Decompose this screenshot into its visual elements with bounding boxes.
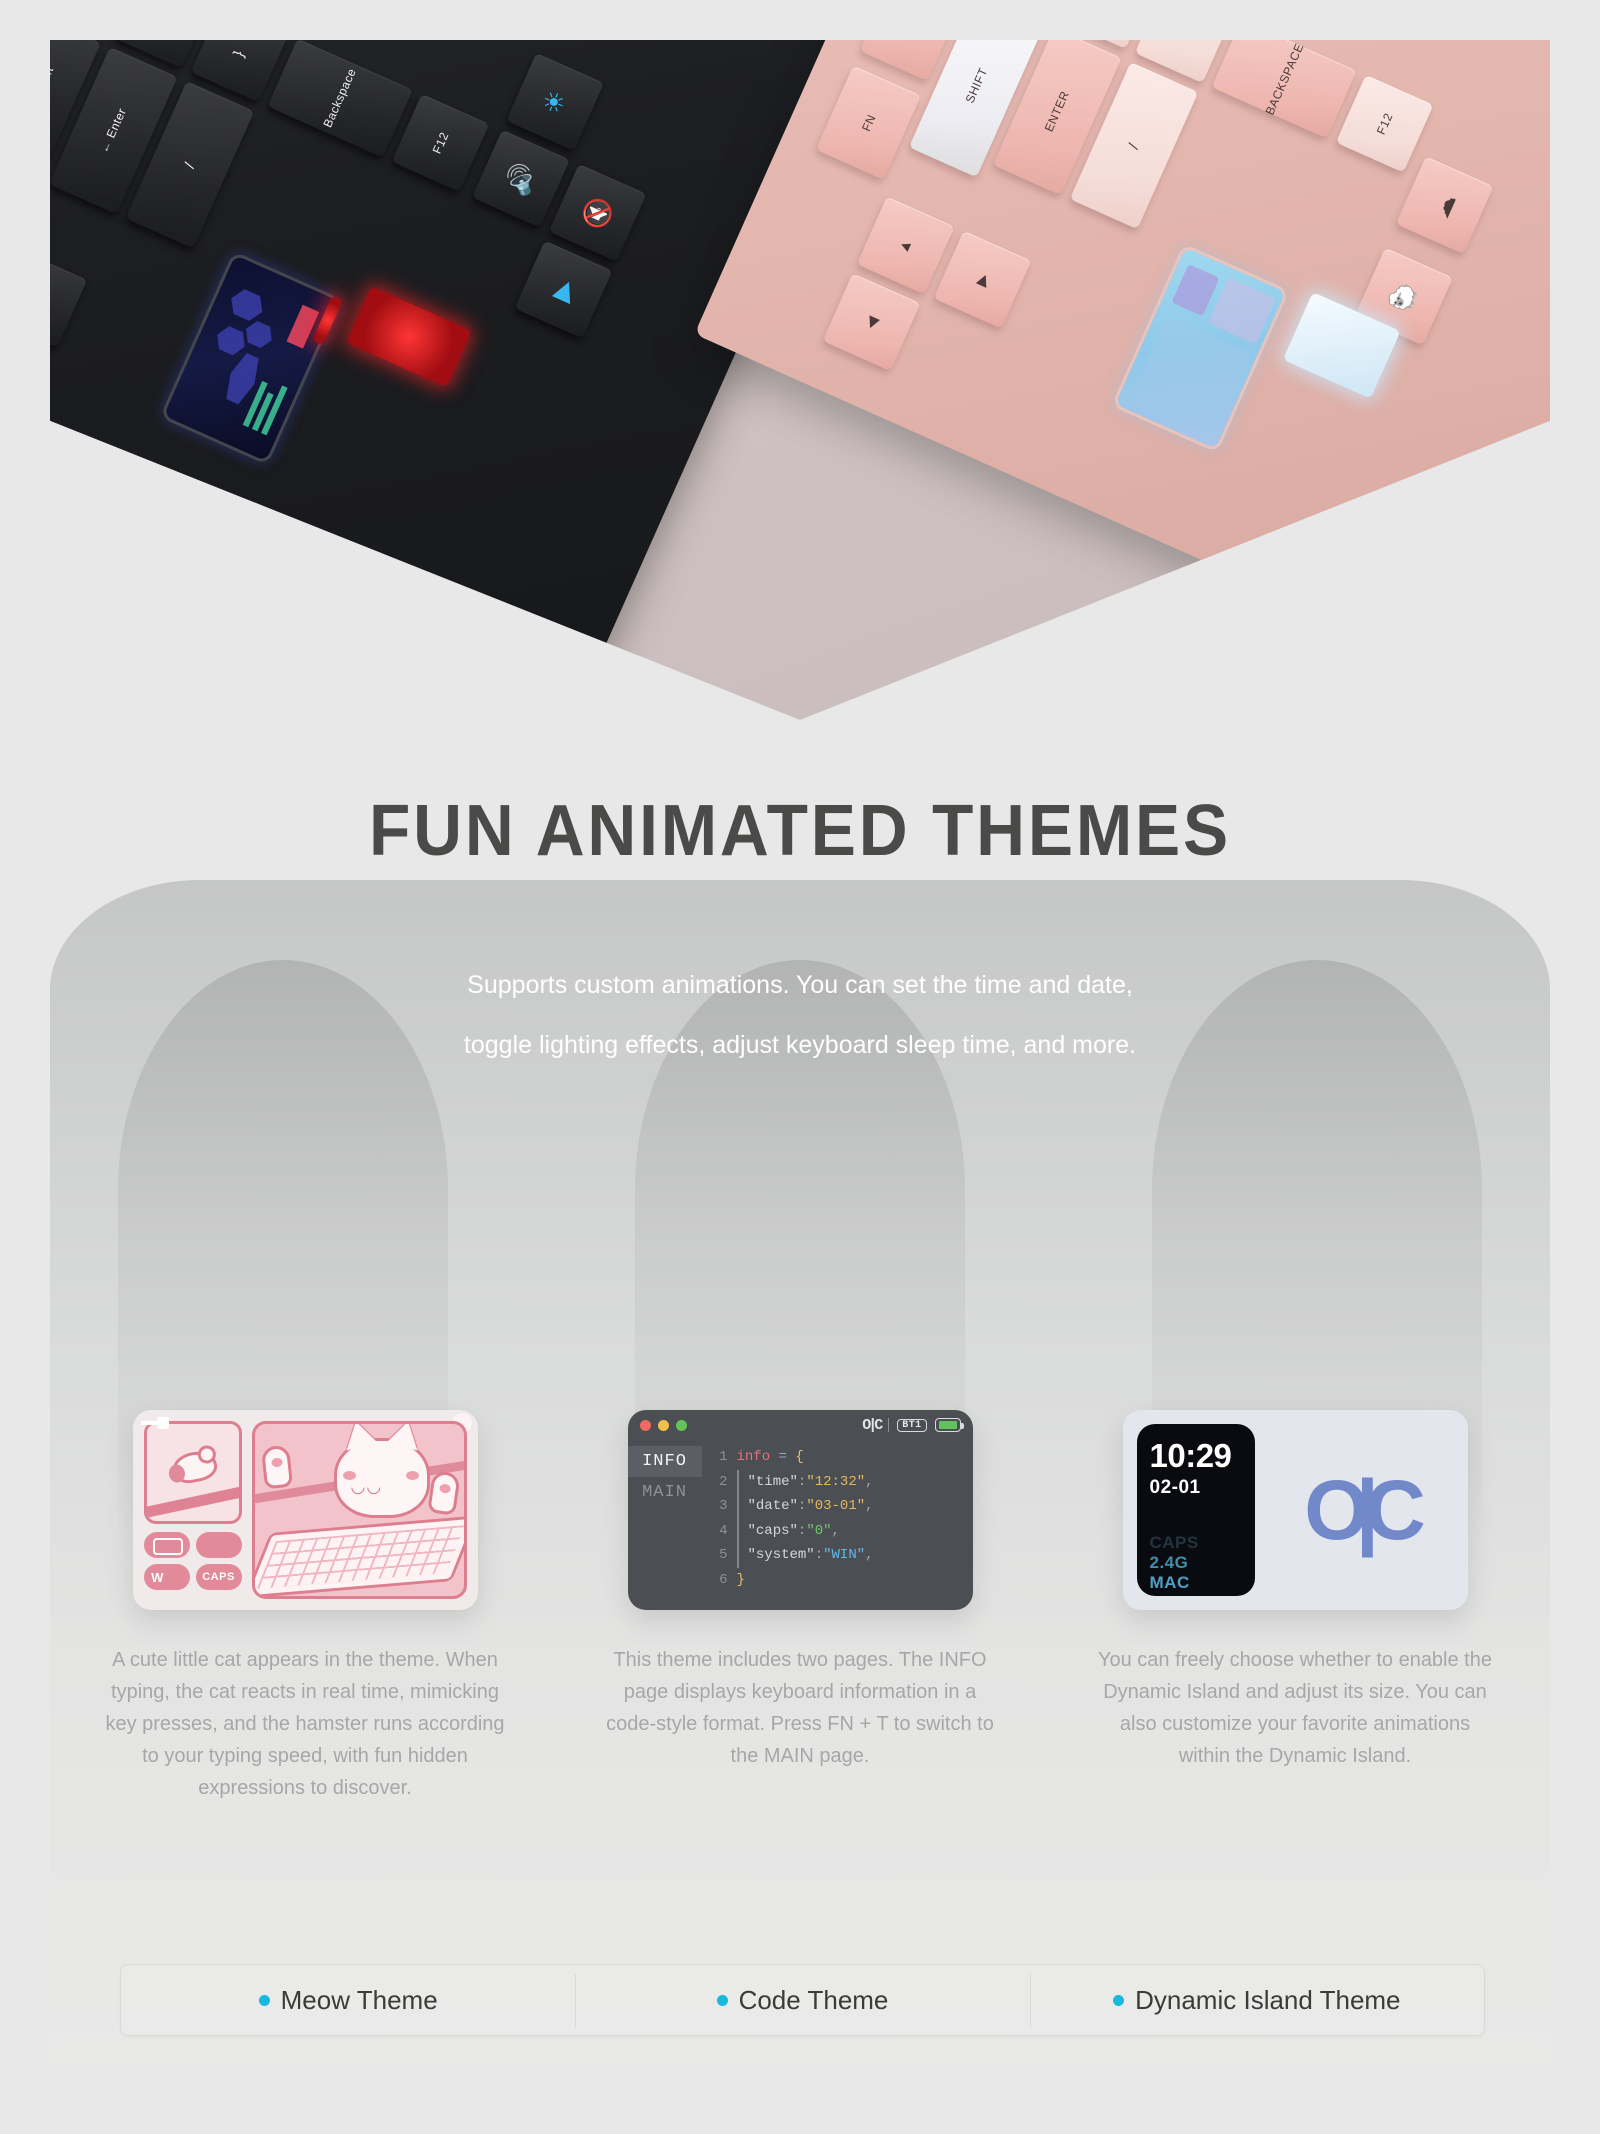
theme-tabbar: Meow Theme Code Theme Dynamic Island The…: [120, 1964, 1485, 2036]
hero-backdrop: ? " } Backspace F12 ⇧ Shift ← Enter / Co…: [50, 40, 1550, 720]
di-connection-status: 2.4G: [1150, 1553, 1255, 1573]
key-arrow-right: ▶: [50, 250, 87, 348]
brightness-icon: ☀: [506, 53, 604, 151]
maximize-icon[interactable]: [676, 1420, 687, 1431]
usb-icon: [196, 1532, 242, 1558]
tab-label: Dynamic Island Theme: [1135, 1985, 1400, 2016]
code-window-titlebar: O|C BT1: [628, 1410, 973, 1440]
minimize-icon[interactable]: [658, 1420, 669, 1431]
sound-icon: 🔊: [472, 130, 570, 228]
code-tab-main[interactable]: MAIN: [628, 1477, 702, 1508]
page-subtitle: Supports custom animations. You can set …: [0, 955, 1600, 1075]
bullet-icon: [259, 1995, 270, 2006]
code-window-body: INFO MAIN 1info = { 2"time":"12:32", 3"d…: [628, 1440, 973, 1610]
caps-indicator: CAPS: [196, 1564, 242, 1590]
key-f12-pink: F12: [1336, 75, 1434, 173]
di-date: 02-01: [1150, 1477, 1255, 1499]
meow-status-chips: W CAPS: [144, 1532, 242, 1590]
code-line: 1info = {: [706, 1445, 973, 1470]
dynamic-island-theme-art: 10:29 02-01 CAPS 2.4G MAC O|C: [1123, 1410, 1468, 1610]
cat-paw-right: [427, 1470, 461, 1515]
divider: [888, 1418, 889, 1432]
cat-ear-left: [340, 1421, 377, 1450]
tab-label: Meow Theme: [281, 1985, 438, 2016]
key-cloud-icon: ☁: [1396, 156, 1494, 254]
battery-icon: [144, 1532, 190, 1558]
tab-dynamic-island-theme[interactable]: Dynamic Island Theme: [1030, 1965, 1484, 2035]
meow-left-column: W CAPS: [144, 1421, 242, 1599]
subtitle-line-1: Supports custom animations. You can set …: [0, 955, 1600, 1015]
code-line: 2"time":"12:32",: [706, 1470, 973, 1495]
code-editor-lines: 1info = { 2"time":"12:32", 3"date":"03-0…: [702, 1440, 973, 1610]
keyboard-illustration: [252, 1515, 467, 1598]
pink-keyboard-mini-screen: [1111, 243, 1289, 453]
black-keyboard: ? " } Backspace F12 ⇧ Shift ← Enter / Co…: [50, 40, 882, 701]
page-title: FUN ANIMATED THEMES: [48, 790, 1552, 872]
hamster-ramp: [144, 1484, 242, 1520]
meow-theme-art: W CAPS ◡◡: [133, 1410, 478, 1610]
oc-logo-icon: O|C: [862, 1417, 880, 1434]
play-icon: ▶: [515, 241, 613, 339]
dynamic-island-screen: 10:29 02-01 CAPS 2.4G MAC: [1137, 1424, 1255, 1596]
di-system-status: MAC: [1150, 1573, 1255, 1593]
pink-keyboard-keys: ? " } BACKSPACE F12 SHIFT ENTER / FN 🐵 🐰…: [694, 40, 1550, 700]
black-keyboard-keys: ? " } Backspace F12 ⇧ Shift ← Enter / Co…: [50, 40, 882, 701]
theme-cards: W CAPS ◡◡ A cute little cat appears in t…: [90, 1410, 1510, 1804]
pink-keyboard: ? " } BACKSPACE F12 SHIFT ENTER / FN 🐵 🐰…: [694, 40, 1550, 700]
key-arrow-up-pink: ▲: [857, 197, 955, 295]
close-icon[interactable]: [640, 1420, 651, 1431]
black-keyboard-mini-screen: [160, 251, 342, 465]
key-backspace: Backspace: [267, 40, 412, 158]
tab-meow-theme[interactable]: Meow Theme: [121, 1965, 575, 2035]
hamster-panel: [144, 1421, 242, 1524]
cat-face: ◡◡: [351, 1477, 383, 1497]
subtitle-line-2: toggle lighting effects, adjust keyboard…: [0, 1015, 1600, 1075]
theme-card-code: O|C BT1 INFO MAIN 1info = { 2"time":"12:…: [585, 1410, 1015, 1804]
hamster-icon: [170, 1448, 219, 1486]
bluetooth-badge: BT1: [897, 1419, 926, 1432]
cat-blush-right: [406, 1471, 419, 1480]
bullet-icon: [717, 1995, 728, 2006]
meow-caption: A cute little cat appears in the theme. …: [105, 1644, 505, 1804]
theme-card-dynamic-island: 10:29 02-01 CAPS 2.4G MAC O|C You can fr…: [1080, 1410, 1510, 1804]
key-f12: F12: [392, 94, 490, 192]
theme-card-meow: W CAPS ◡◡ A cute little cat appears in t…: [90, 1410, 520, 1804]
win-indicator: W: [144, 1564, 190, 1590]
cat-paw-left: [260, 1445, 292, 1490]
mute-icon: 🔇: [549, 164, 647, 262]
key-fn-pink: FN: [816, 66, 921, 180]
code-window-status: O|C BT1: [862, 1417, 960, 1434]
red-led-strip: [346, 286, 472, 387]
tab-code-theme[interactable]: Code Theme: [575, 1965, 1029, 2035]
code-line: 3"date":"03-01",: [706, 1494, 973, 1519]
code-theme-art: O|C BT1 INFO MAIN 1info = { 2"time":"12:…: [628, 1410, 973, 1610]
key-arrow-right-pink: ▶: [934, 231, 1032, 329]
dynamic-island-caption: You can freely choose whether to enable …: [1095, 1644, 1495, 1772]
cat-panel: ◡◡: [252, 1421, 467, 1599]
key-arrow-left-pink: ◀: [823, 273, 921, 371]
cat-icon: ◡◡: [334, 1438, 430, 1518]
di-status-list: CAPS 2.4G MAC: [1150, 1533, 1255, 1593]
code-line: 4"caps":"0",: [706, 1519, 973, 1544]
di-time: 10:29: [1150, 1439, 1255, 1473]
code-line: 5"system":"WIN",: [706, 1543, 973, 1568]
hero-image: ? " } Backspace F12 ⇧ Shift ← Enter / Co…: [50, 40, 1550, 720]
battery-charging-icon: [935, 1418, 961, 1432]
code-line: 6}: [706, 1568, 973, 1593]
code-page-tabs: INFO MAIN: [628, 1440, 702, 1610]
oc-logo-icon: O|C: [1249, 1462, 1468, 1559]
cat-ear-right: [386, 1421, 423, 1450]
key-backspace-pink: BACKSPACE: [1212, 40, 1357, 138]
bullet-icon: [1113, 1995, 1124, 2006]
code-tab-info[interactable]: INFO: [628, 1446, 702, 1477]
code-caption: This theme includes two pages. The INFO …: [600, 1644, 1000, 1772]
tab-label: Code Theme: [739, 1985, 889, 2016]
di-caps-status: CAPS: [1150, 1533, 1255, 1553]
